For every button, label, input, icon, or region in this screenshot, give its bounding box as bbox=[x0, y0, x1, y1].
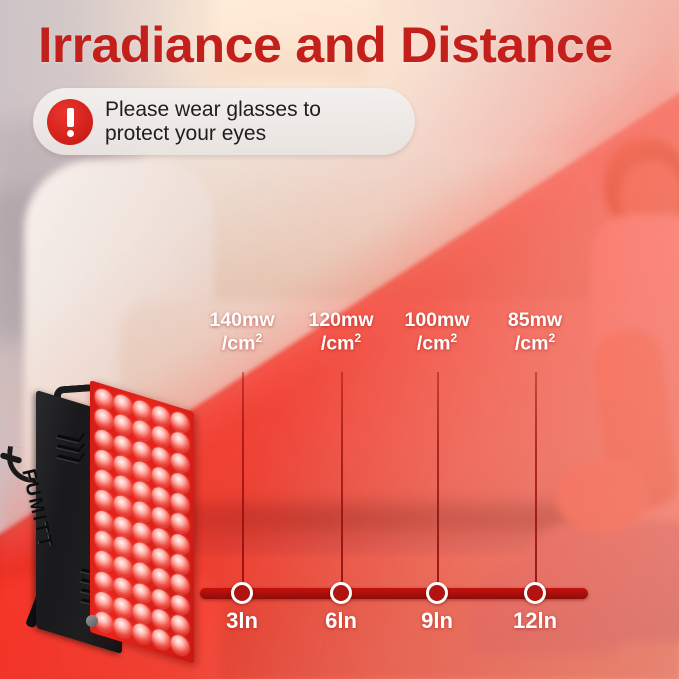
led-bulb bbox=[171, 511, 189, 535]
led-bulb bbox=[133, 459, 151, 483]
led-bulb bbox=[152, 627, 170, 651]
led-bulb bbox=[133, 439, 151, 463]
distance-label: 6ln bbox=[291, 608, 391, 634]
irradiance-value: 85mw bbox=[508, 309, 562, 331]
led-bulb bbox=[171, 633, 189, 657]
led-bulb bbox=[95, 387, 113, 411]
led-bulb bbox=[95, 407, 113, 431]
led-bulb bbox=[114, 575, 132, 599]
led-bulb bbox=[133, 398, 151, 422]
led-bulb bbox=[95, 569, 113, 593]
irradiance-value: 120mw bbox=[308, 309, 373, 331]
led-bulb bbox=[95, 468, 113, 492]
led-bulb bbox=[133, 520, 151, 544]
led-bulb bbox=[114, 453, 132, 477]
led-bulb bbox=[171, 532, 189, 556]
led-bulb bbox=[114, 595, 132, 619]
page-title: Irradiance and Distance bbox=[38, 18, 662, 72]
callout-leader-line bbox=[242, 372, 244, 590]
led-bulb bbox=[114, 555, 132, 579]
led-bulb bbox=[114, 514, 132, 538]
irradiance-value: 140mw bbox=[209, 309, 274, 331]
safety-warning-text: Please wear glasses to protect your eyes bbox=[105, 98, 321, 145]
led-bulb bbox=[114, 494, 132, 518]
led-bulb bbox=[152, 546, 170, 570]
safety-warning-line-1: Please wear glasses to bbox=[105, 98, 321, 122]
led-bulb bbox=[152, 607, 170, 631]
led-bulb bbox=[171, 410, 189, 434]
led-bulb bbox=[152, 526, 170, 550]
led-bulb bbox=[171, 491, 189, 515]
distance-marker-dot[interactable] bbox=[426, 582, 448, 604]
safety-warning-line-2: protect your eyes bbox=[105, 122, 321, 146]
led-bulb bbox=[114, 392, 132, 416]
led-bulb bbox=[152, 445, 170, 469]
irradiance-label: 85mw/cm2 bbox=[475, 310, 595, 355]
led-bulb bbox=[114, 534, 132, 558]
led-bulb bbox=[152, 506, 170, 530]
led-bulb bbox=[133, 621, 151, 645]
led-bulb bbox=[171, 471, 189, 495]
led-bulb bbox=[152, 587, 170, 611]
led-bulb bbox=[171, 592, 189, 616]
led-bulb bbox=[171, 430, 189, 454]
led-bulb bbox=[114, 433, 132, 457]
led-bulb bbox=[133, 479, 151, 503]
irradiance-unit: /cm2 bbox=[475, 332, 595, 355]
distance-marker-dot[interactable] bbox=[330, 582, 352, 604]
led-bulb bbox=[152, 566, 170, 590]
exclamation-icon bbox=[47, 99, 93, 145]
device-adjust-knob bbox=[86, 615, 98, 627]
led-bulb bbox=[133, 561, 151, 585]
led-bulb bbox=[95, 427, 113, 451]
led-bulb bbox=[95, 447, 113, 471]
led-bulb bbox=[171, 450, 189, 474]
led-bulb bbox=[133, 581, 151, 605]
infographic-canvas: FUMITT Irradiance and Distance Please we… bbox=[0, 0, 679, 679]
led-bulb bbox=[114, 474, 132, 498]
led-bulb bbox=[95, 488, 113, 512]
led-bulb bbox=[171, 572, 189, 596]
distance-marker-dot[interactable] bbox=[231, 582, 253, 604]
led-bulb bbox=[133, 540, 151, 564]
led-bulb bbox=[95, 549, 113, 573]
led-bulb bbox=[95, 590, 113, 614]
distance-label: 9ln bbox=[387, 608, 487, 634]
callout-leader-line bbox=[535, 372, 537, 590]
led-array bbox=[95, 387, 189, 658]
led-bulb bbox=[114, 413, 132, 437]
led-bulb bbox=[95, 508, 113, 532]
led-bulb bbox=[133, 500, 151, 524]
led-bulb bbox=[152, 404, 170, 428]
led-bulb bbox=[152, 465, 170, 489]
led-bulb bbox=[114, 616, 132, 640]
led-bulb bbox=[133, 419, 151, 443]
led-bulb bbox=[171, 613, 189, 637]
callout-leader-line bbox=[437, 372, 439, 590]
led-bulb bbox=[95, 529, 113, 553]
safety-warning-badge: Please wear glasses to protect your eyes bbox=[33, 88, 415, 155]
led-bulb bbox=[152, 424, 170, 448]
irradiance-value: 100mw bbox=[404, 309, 469, 331]
led-bulb bbox=[152, 485, 170, 509]
led-bulb bbox=[133, 601, 151, 625]
callout-leader-line bbox=[341, 372, 343, 590]
distance-label: 12ln bbox=[485, 608, 585, 634]
led-bulb bbox=[171, 552, 189, 576]
distance-marker-dot[interactable] bbox=[524, 582, 546, 604]
device-led-panel bbox=[90, 380, 194, 664]
distance-label: 3ln bbox=[192, 608, 292, 634]
